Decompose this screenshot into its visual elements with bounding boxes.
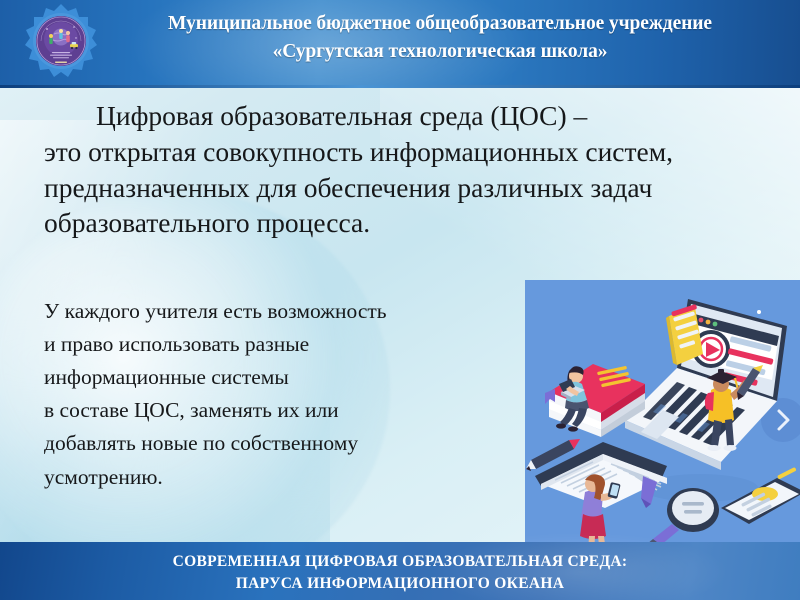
paragraph2-line: и право использовать разные <box>44 328 514 361</box>
lead-body: это открытая совокупность информационных… <box>44 136 673 239</box>
school-name-line1: Муниципальное бюджетное общеобразователь… <box>168 13 712 34</box>
isometric-elearning-illustration <box>525 280 800 542</box>
paragraph2-line: информационные системы <box>44 361 514 394</box>
footer-line2: ПАРУСА ИНФОРМАЦИОННОГО ОКЕАНА <box>0 573 800 595</box>
lead-headline: Цифровая образовательная среда (ЦОС) – <box>44 98 756 134</box>
school-gear-emblem-logo <box>24 3 98 81</box>
lead-definition-text: Цифровая образовательная среда (ЦОС) –эт… <box>44 98 756 241</box>
paragraph2-line: усмотрению. <box>44 461 514 494</box>
slide-header: Муниципальное бюджетное общеобразователь… <box>0 0 800 88</box>
paragraph2-line: в составе ЦОС, заменять их или <box>44 394 514 427</box>
footer-caption: СОВРЕМЕННАЯ ЦИФРОВАЯ ОБРАЗОВАТЕЛЬНАЯ СРЕ… <box>0 551 800 595</box>
slide-footer: СОВРЕМЕННАЯ ЦИФРОВАЯ ОБРАЗОВАТЕЛЬНАЯ СРЕ… <box>0 542 800 600</box>
paragraph2-line: добавлять новые по собственному <box>44 427 514 460</box>
school-name-title: Муниципальное бюджетное общеобразователь… <box>110 10 770 67</box>
presentation-slide: Муниципальное бюджетное общеобразователь… <box>0 0 800 600</box>
paragraph2-line: У каждого учителя есть возможность <box>44 295 514 328</box>
school-name-line2: «Сургутская технологическая школа» <box>110 38 770 66</box>
teacher-rights-paragraph: У каждого учителя есть возможность и пра… <box>44 295 514 494</box>
footer-line1: СОВРЕМЕННАЯ ЦИФРОВАЯ ОБРАЗОВАТЕЛЬНАЯ СРЕ… <box>173 553 628 570</box>
